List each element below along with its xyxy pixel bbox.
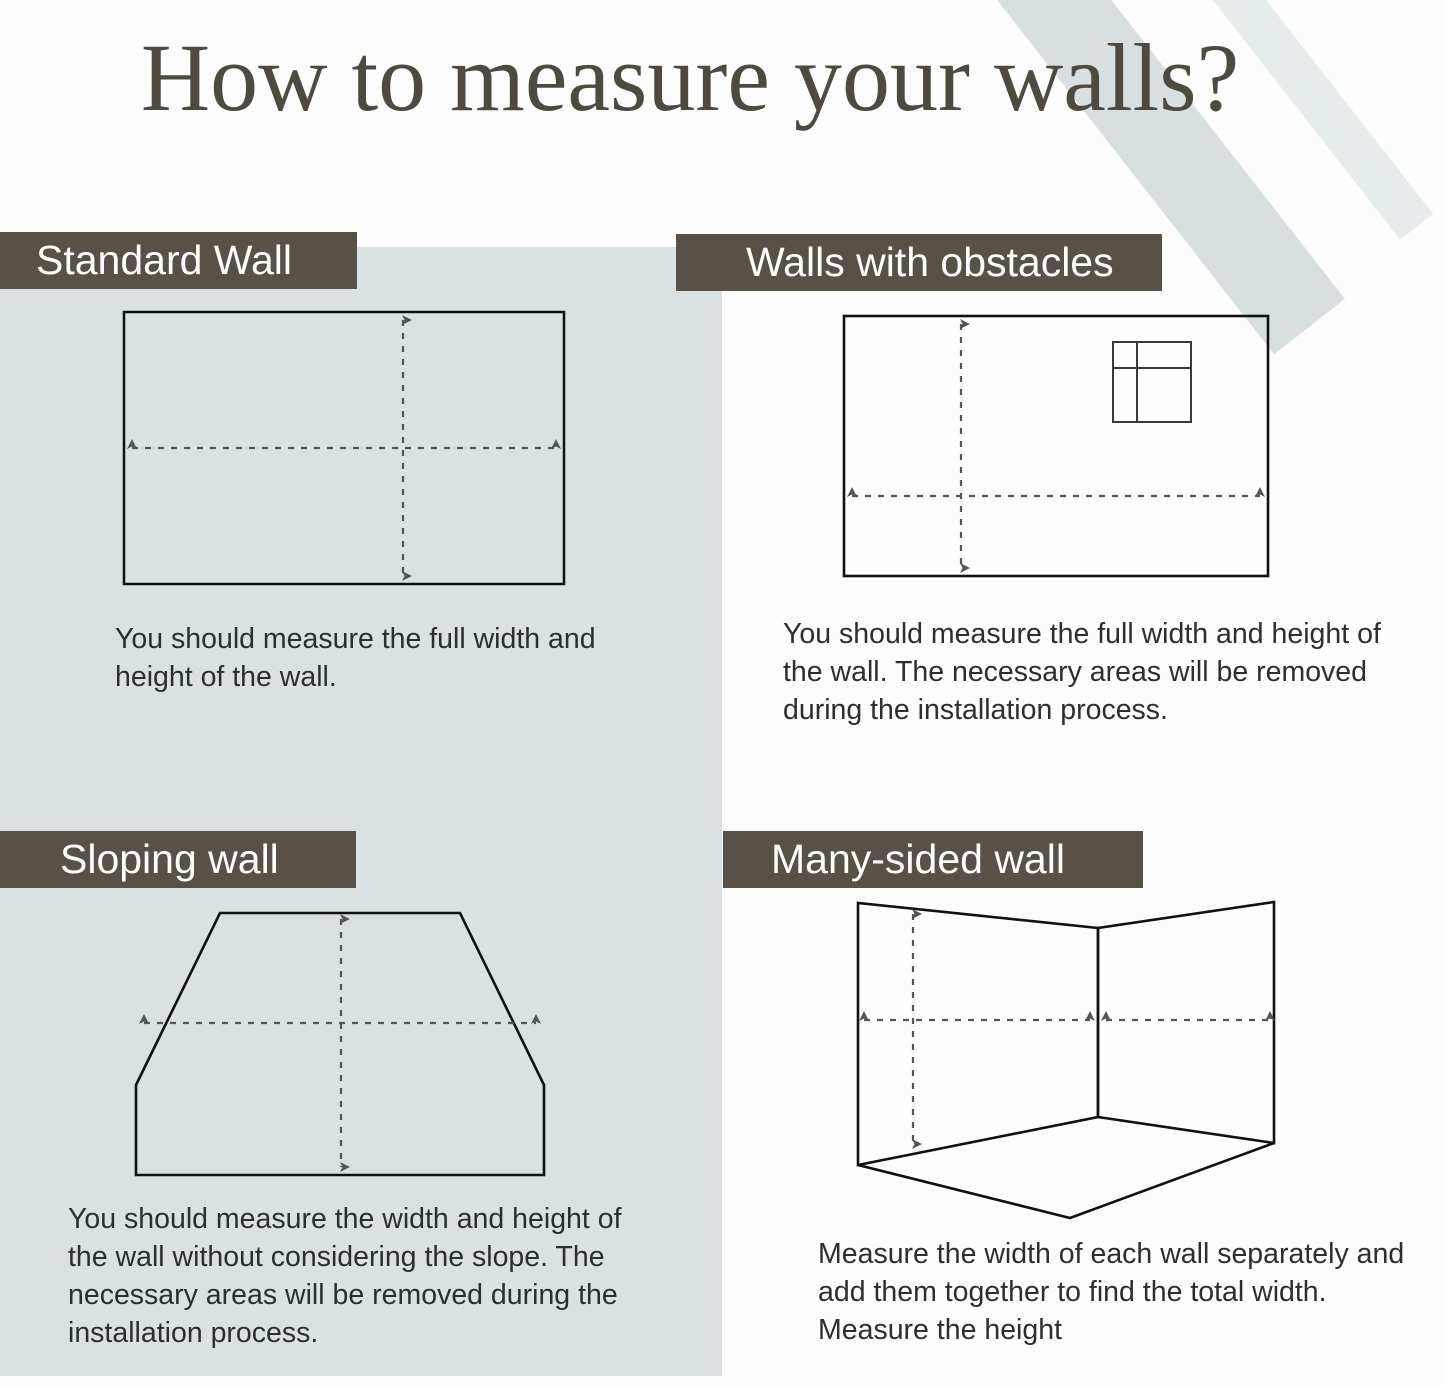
infographic-page: How to measure your walls? Standard Wall… — [0, 0, 1445, 1386]
section-heading-walls-with-obstacles: Walls with obstacles — [676, 234, 1162, 291]
caption-sloping-wall: You should measure the width and height … — [68, 1200, 658, 1352]
diagram-standard-wall — [110, 300, 580, 600]
caption-many-sided-wall: Measure the width of each wall separatel… — [818, 1235, 1428, 1349]
diagram-sloping-wall — [110, 895, 580, 1195]
caption-standard-wall: You should measure the full width and he… — [115, 620, 675, 696]
diagram-walls-with-obstacles — [830, 300, 1290, 600]
section-heading-many-sided-wall: Many-sided wall — [723, 831, 1143, 888]
wall-outline — [844, 316, 1268, 576]
section-heading-sloping-wall: Sloping wall — [0, 831, 356, 888]
caption-walls-with-obstacles: You should measure the full width and he… — [783, 615, 1423, 729]
wall-outline — [136, 913, 544, 1175]
corner-walls-outline — [858, 902, 1274, 1218]
page-title: How to measure your walls? — [0, 30, 1380, 126]
diagram-many-sided-wall — [840, 890, 1310, 1210]
window-obstacle-icon — [1113, 342, 1191, 422]
section-heading-standard-wall: Standard Wall — [0, 232, 357, 289]
